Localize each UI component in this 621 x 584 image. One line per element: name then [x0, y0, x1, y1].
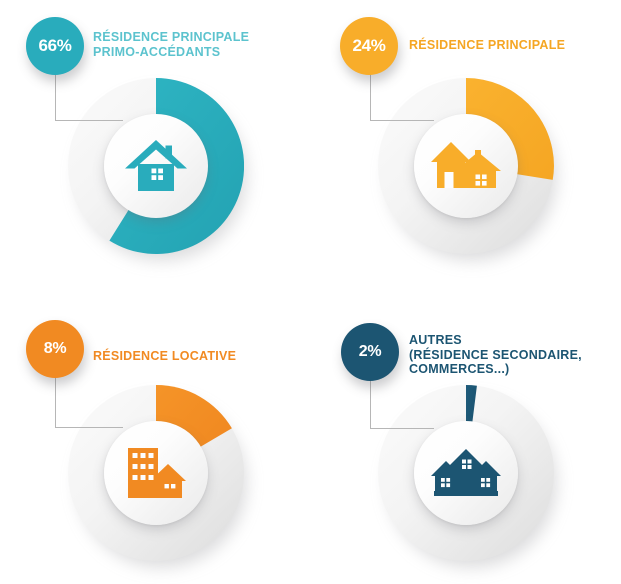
panel-label-1-line-1: RÉSIDENCE PRINCIPALE [93, 30, 249, 45]
panel-label-3: RÉSIDENCE LOCATIVE [93, 349, 236, 364]
badge-percent-3[interactable]: 8% [26, 320, 84, 378]
badge-percent-label-1: 66% [38, 36, 71, 56]
donut-chart-1 [68, 78, 244, 254]
donut-center-3 [104, 421, 208, 525]
badge-percent-4[interactable]: 2% [341, 323, 399, 381]
panel-label-4-line-1: AUTRES [409, 333, 582, 348]
panel-label-3-line-1: RÉSIDENCE LOCATIVE [93, 349, 236, 364]
donut-center-2 [414, 114, 518, 218]
donut-chart-3 [68, 385, 244, 561]
panel-label-4-line-2: (RÉSIDENCE SECONDAIRE, [409, 348, 582, 363]
panel-residence-locative: 8% RÉSIDENCE LOCATIVE [0, 300, 311, 584]
donut-center-4 [414, 421, 518, 525]
infographic-root: 66% RÉSIDENCE PRINCIPALE PRIMO-ACCÉDANTS [0, 0, 621, 568]
house-single-icon [123, 137, 189, 195]
badge-percent-label-4: 2% [359, 343, 382, 361]
panel-label-4-line-3: COMMERCES...) [409, 362, 582, 377]
panel-residence-principale-primo-accedants: 66% RÉSIDENCE PRINCIPALE PRIMO-ACCÉDANTS [0, 0, 311, 284]
house-double-gable-icon [431, 140, 501, 192]
badge-percent-2[interactable]: 24% [340, 17, 398, 75]
donut-chart-2 [378, 78, 554, 254]
panel-label-4: AUTRES (RÉSIDENCE SECONDAIRE, COMMERCES.… [409, 333, 582, 377]
panel-autres: 2% AUTRES (RÉSIDENCE SECONDAIRE, COMMERC… [310, 300, 621, 584]
badge-percent-label-2: 24% [352, 36, 385, 56]
panel-residence-principale: 24% RÉSIDENCE PRINCIPALE [310, 0, 621, 284]
panel-label-1: RÉSIDENCE PRINCIPALE PRIMO-ACCÉDANTS [93, 30, 249, 59]
apartment-building-icon [126, 446, 186, 500]
panel-label-2: RÉSIDENCE PRINCIPALE [409, 38, 565, 53]
badge-percent-label-3: 8% [44, 340, 67, 358]
houses-group-icon [430, 447, 502, 499]
panel-label-1-line-2: PRIMO-ACCÉDANTS [93, 45, 249, 60]
badge-percent-1[interactable]: 66% [26, 17, 84, 75]
donut-center-1 [104, 114, 208, 218]
donut-chart-4 [378, 385, 554, 561]
panel-label-2-line-1: RÉSIDENCE PRINCIPALE [409, 38, 565, 53]
